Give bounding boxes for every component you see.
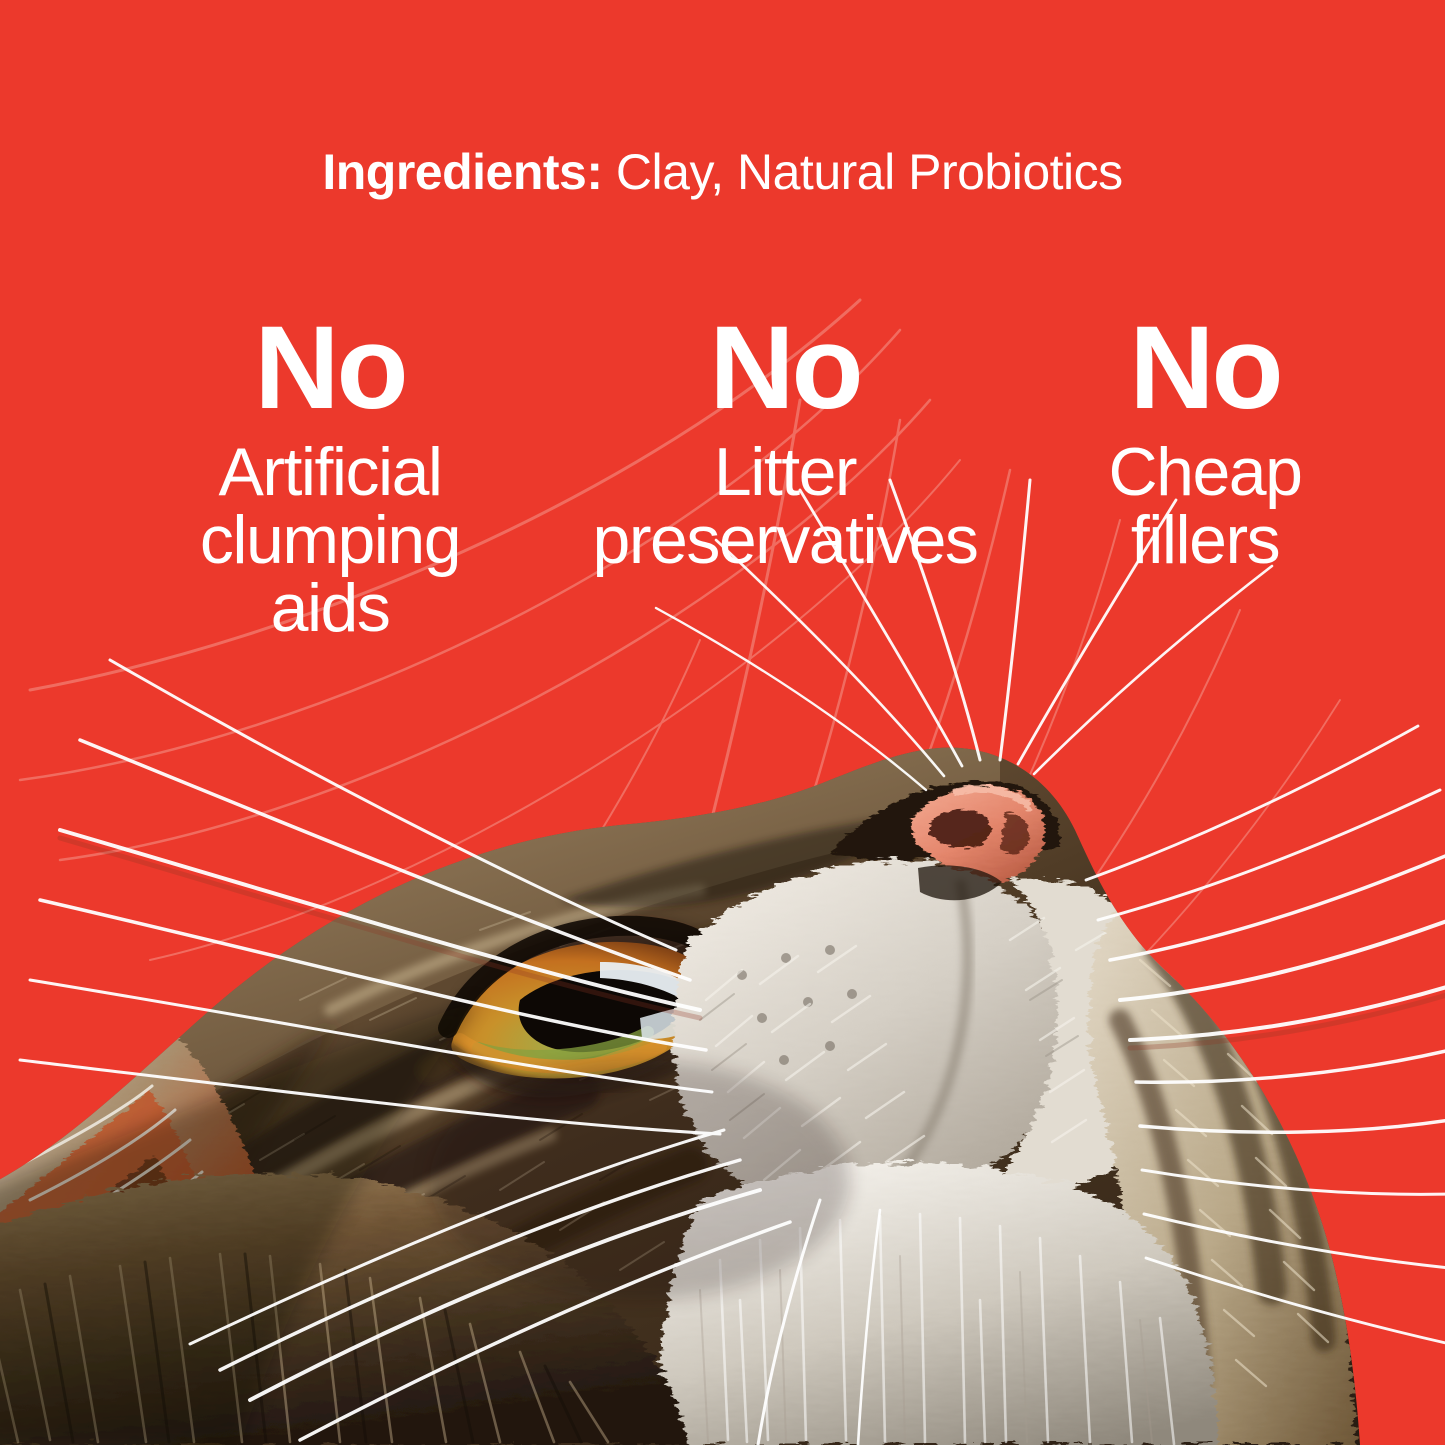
claim-headline-3: No <box>1040 312 1370 424</box>
ingredients-value: Clay, Natural Probiotics <box>616 144 1123 200</box>
claim-column-litter-preservatives: No Litter preservatives <box>545 312 1025 574</box>
ingredients-line: Ingredients: Clay, Natural Probiotics <box>0 142 1445 202</box>
claims-row: No Artificial clumping aids No Litter pr… <box>0 312 1445 652</box>
ingredients-label: Ingredients: <box>322 144 602 200</box>
claim-detail-1: Artificial clumping aids <box>120 438 540 642</box>
claim-detail-3: Cheap fillers <box>1040 438 1370 574</box>
product-infographic: Ingredients: Clay, Natural Probiotics No… <box>0 0 1445 1445</box>
copy-layer: Ingredients: Clay, Natural Probiotics No… <box>0 0 1445 1445</box>
claim-column-cheap-fillers: No Cheap fillers <box>1040 312 1370 574</box>
claim-headline-2: No <box>545 312 1025 424</box>
claim-column-artificial-clumping-aids: No Artificial clumping aids <box>120 312 540 642</box>
claim-detail-2: Litter preservatives <box>545 438 1025 574</box>
claim-headline-1: No <box>120 312 540 424</box>
